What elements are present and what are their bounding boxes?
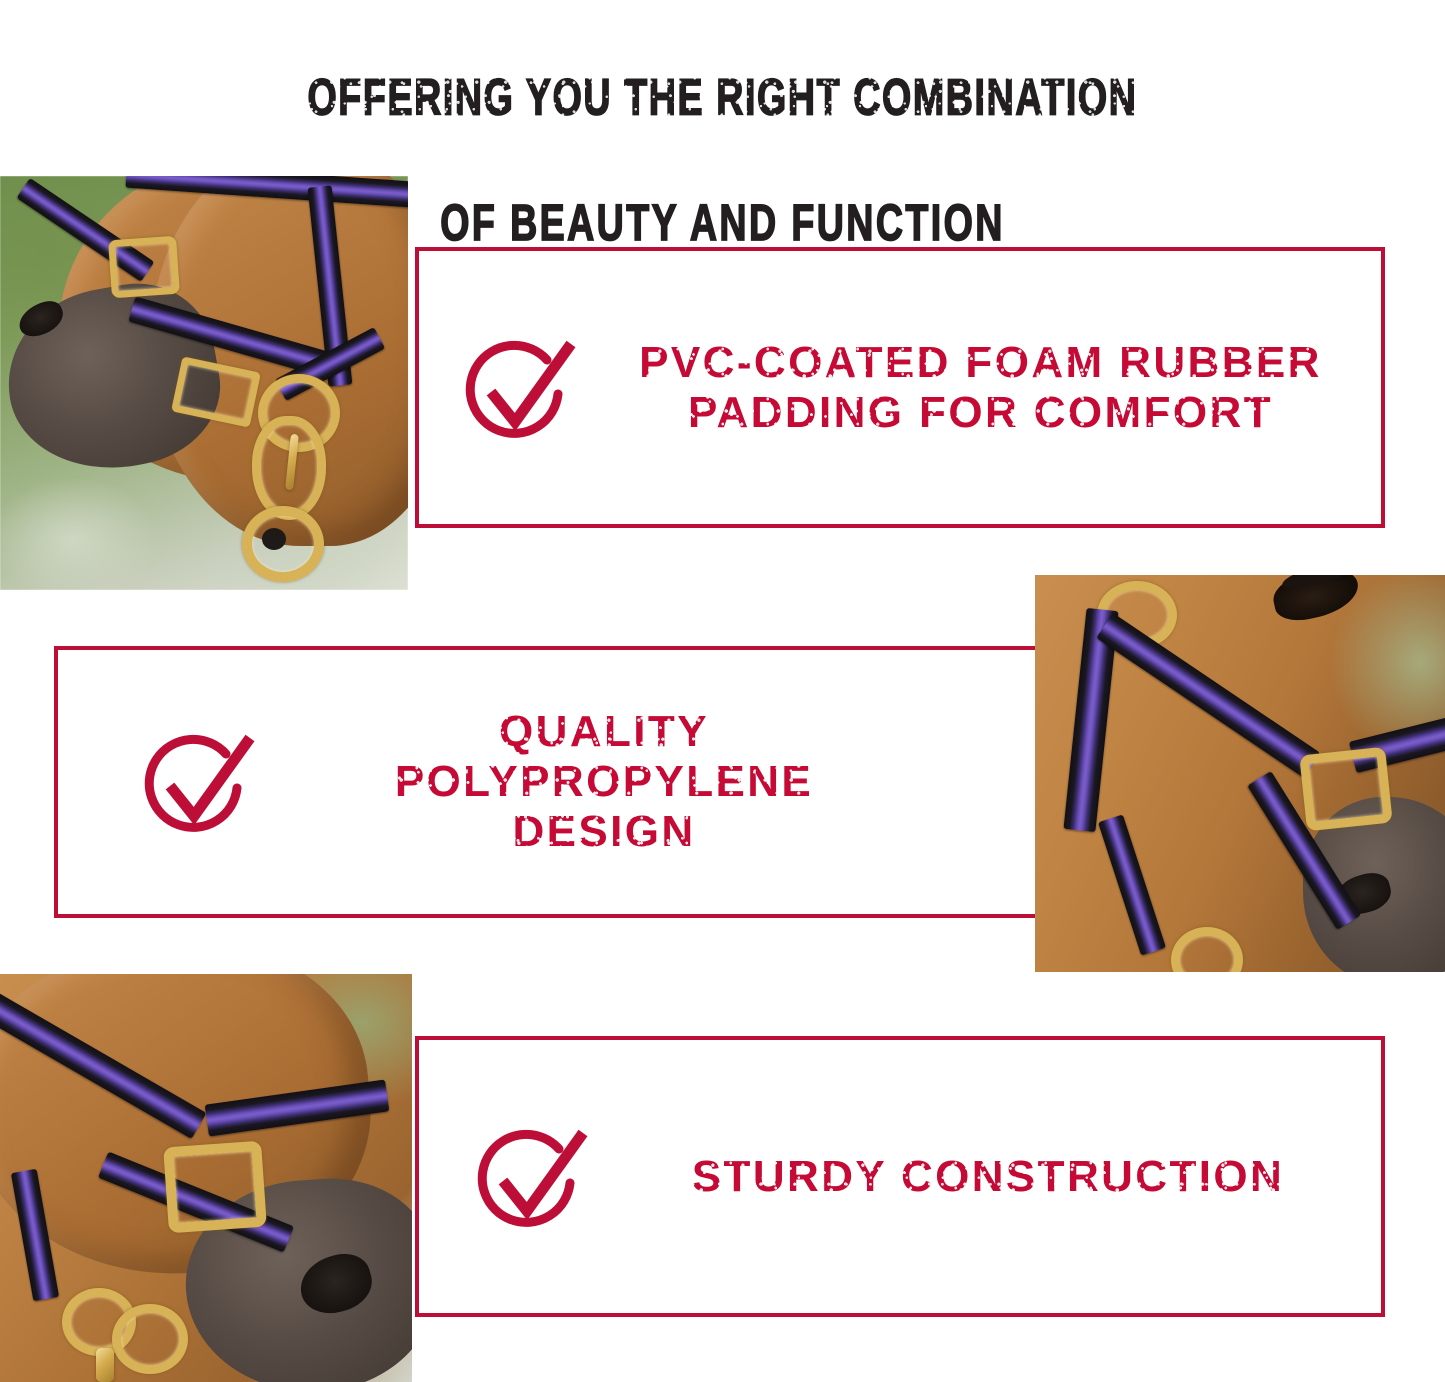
feature-text-padding: PVC-COATED FOAM RUBBER PADDING FOR COMFO… [639, 338, 1322, 437]
brass-lower-ring [112, 1304, 188, 1374]
feature-box-padding[interactable]: PVC-COATED FOAM RUBBER PADDING FOR COMFO… [415, 247, 1385, 528]
brass-square-ring-upper [108, 236, 180, 299]
feature-text-construction: STURDY CONSTRUCTION [692, 1152, 1284, 1201]
infographic-canvas: OFFERING YOU THE RIGHT COMBINATION OF BE… [0, 0, 1445, 1382]
check-circle-icon [138, 724, 254, 840]
brass-square-ring [163, 1141, 267, 1234]
page-title-line-1: OFFERING YOU THE RIGHT COMBINATION [145, 66, 1301, 129]
check-circle-icon [471, 1119, 587, 1235]
feature-box-design[interactable]: QUALITY POLYPROPYLENE DESIGN [54, 646, 1064, 918]
lead-rope-core [262, 528, 286, 550]
photo-noseband [0, 974, 412, 1382]
photo-muzzle-clip [0, 176, 408, 590]
brass-snap-clip [96, 1348, 114, 1382]
check-circle-icon [459, 330, 575, 446]
feature-box-construction[interactable]: STURDY CONSTRUCTION [415, 1036, 1385, 1317]
feature-text-design: QUALITY POLYPROPYLENE DESIGN [395, 707, 813, 856]
brass-square-ring [1299, 747, 1392, 832]
photo-side-profile [1035, 575, 1445, 972]
